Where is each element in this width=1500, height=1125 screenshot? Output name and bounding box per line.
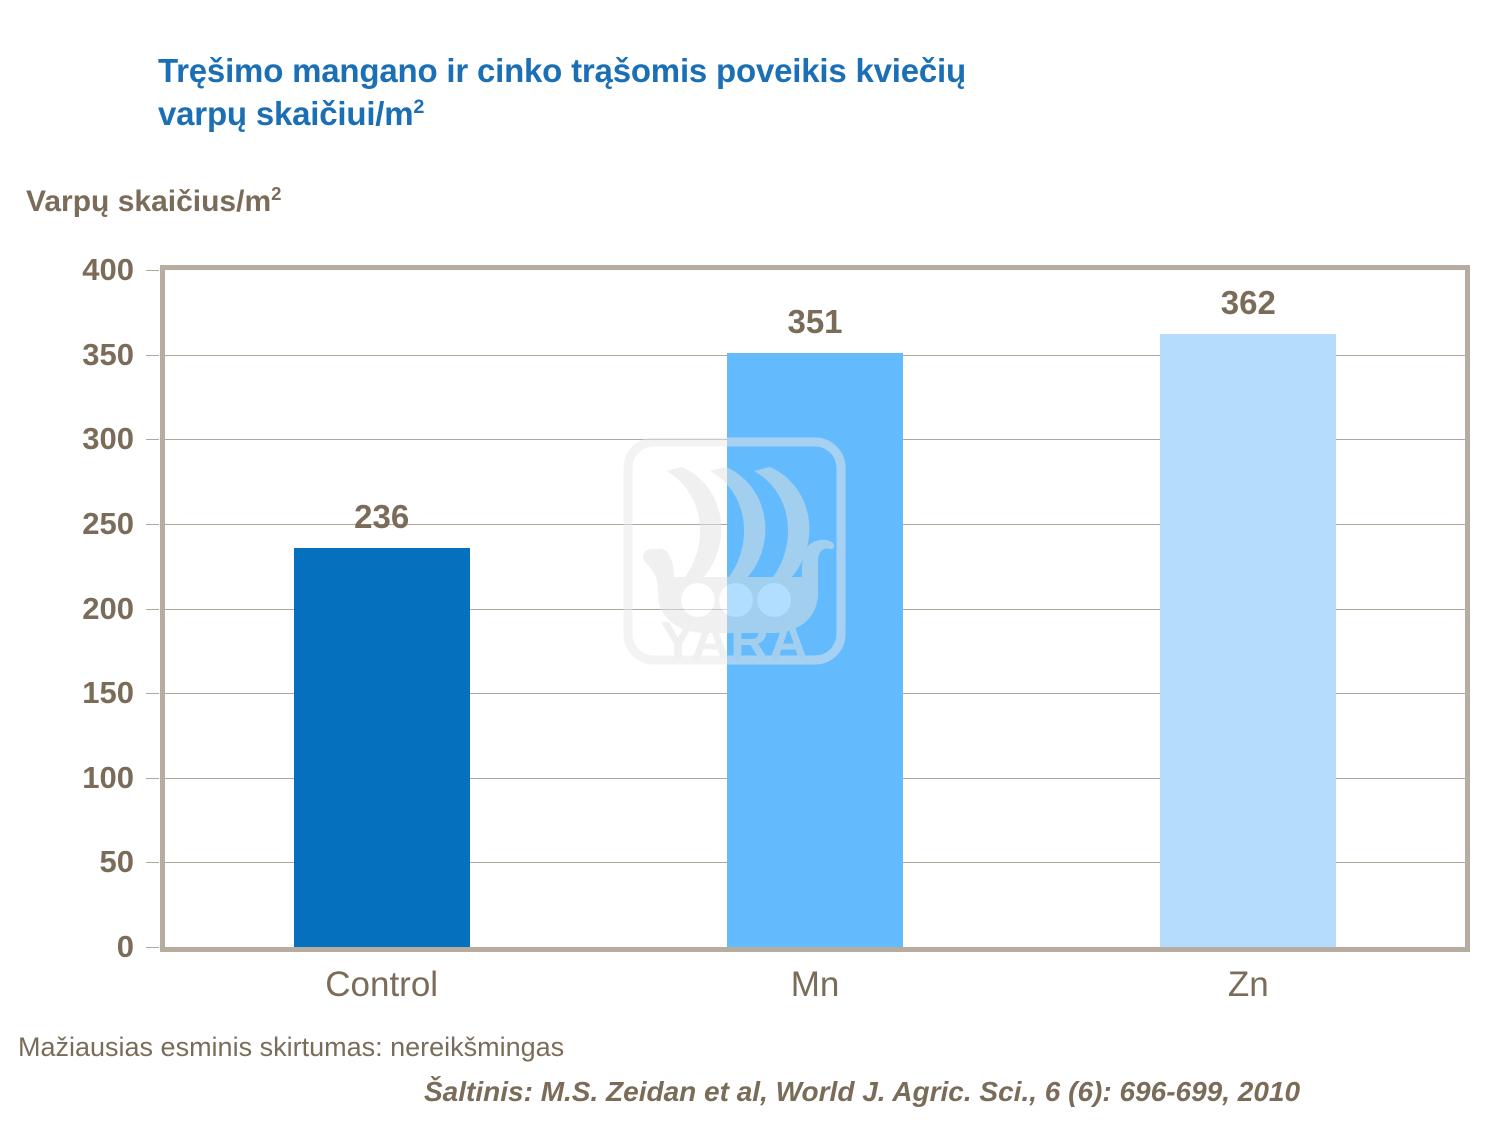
y-tick-label: 300 [14, 421, 134, 457]
y-tick-mark [146, 862, 159, 863]
page-title: Tręšimo mangano ir cinko trąšomis poveik… [158, 50, 1338, 136]
bar-zn[interactable] [1160, 334, 1336, 947]
y-tick-label: 100 [14, 760, 134, 796]
y-tick-label: 250 [14, 506, 134, 542]
y-tick-label: 0 [14, 929, 134, 965]
page-title-line1: Tręšimo mangano ir cinko trąšomis poveik… [158, 52, 966, 89]
y-tick-mark [146, 355, 159, 356]
bar-value-label: 351 [705, 303, 925, 341]
x-tick-label-mn: Mn [665, 965, 965, 1005]
bar-value-label: 236 [272, 498, 492, 536]
lsd-note: Mažiausias esminis skirtumas: nereikšmin… [18, 1032, 564, 1063]
y-tick-mark [146, 693, 159, 694]
y-axis-title-superscript: 2 [271, 183, 281, 204]
y-tick-mark [146, 609, 159, 610]
y-tick-mark [146, 524, 159, 525]
x-tick-label-control: Control [232, 965, 532, 1005]
y-axis-title: Varpų skaičius/m2 [26, 185, 281, 219]
plot-inner: 236351362 [165, 270, 1465, 947]
bar-value-label: 362 [1138, 284, 1358, 322]
y-tick-mark [146, 947, 159, 948]
y-axis-title-text: Varpų skaičius/m [26, 185, 271, 218]
x-tick-label-zn: Zn [1098, 965, 1398, 1005]
y-tick-label: 200 [14, 591, 134, 627]
bar-control[interactable] [294, 548, 470, 947]
y-tick-mark [146, 439, 159, 440]
page-title-superscript: 2 [413, 96, 424, 118]
y-tick-label: 400 [14, 252, 134, 288]
source-note: Šaltinis: M.S. Zeidan et al, World J. Ag… [424, 1076, 1300, 1108]
bar-mn[interactable] [727, 353, 903, 947]
plot-area: 236351362 [160, 265, 1470, 952]
y-tick-label: 350 [14, 337, 134, 373]
page-title-line2: varpų skaičiui/m [158, 95, 413, 132]
y-tick-mark [146, 270, 159, 271]
y-tick-label: 50 [14, 844, 134, 880]
y-tick-label: 150 [14, 675, 134, 711]
y-tick-mark [146, 778, 159, 779]
